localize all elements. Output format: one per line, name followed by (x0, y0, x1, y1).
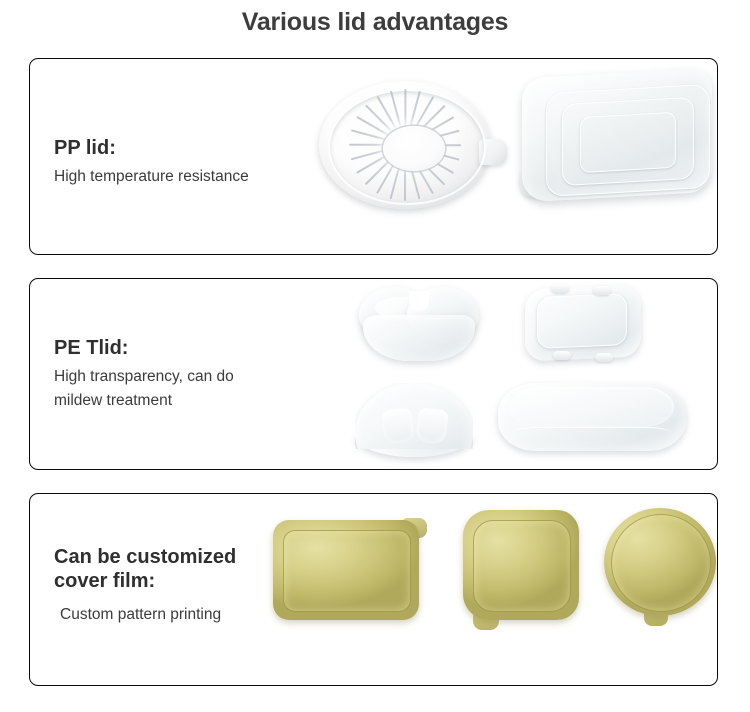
panel-cover-film-heading: Can be customized cover film: (54, 546, 236, 593)
panel-pe-lid-heading: PE Tlid: (54, 337, 234, 361)
product-heart-pe-lid (357, 285, 487, 367)
product-gold-square-foil-lid (457, 504, 589, 634)
oval-lid-seam (512, 427, 672, 440)
product-round-pp-lid (319, 81, 509, 216)
square-lid-inner-panel (537, 293, 627, 349)
oval-lid-top-face (510, 387, 674, 427)
product-gold-round-foil-lid (600, 502, 718, 634)
panel-pp-lid: PP lid: High temperature resistance (29, 58, 718, 255)
square-lid-bump-bottom-right (595, 353, 613, 362)
heart-lid-base (363, 315, 475, 361)
dome-lid-facet-left (381, 408, 414, 445)
round-lid-center (383, 126, 445, 171)
gold-circle-inner-edge (611, 514, 711, 612)
panel-cover-film: Can be customized cover film: Custom pat… (29, 493, 718, 686)
panel-cover-film-description: Custom pattern printing (54, 603, 236, 627)
product-oval-pe-lid (498, 383, 688, 457)
heart-lid-highlight (375, 297, 431, 319)
panel-pp-lid-description: High temperature resistance (54, 165, 249, 189)
rect-lid-ridge-inner (580, 112, 676, 173)
product-dome-pe-lid (355, 383, 475, 455)
product-square-pe-lid (521, 281, 645, 367)
dome-lid-facet-right (415, 408, 448, 445)
square-lid-bump-bottom-left (553, 351, 571, 360)
panel-cover-film-text: Can be customized cover film: Custom pat… (54, 546, 236, 627)
product-gold-rectangular-foil-lid (271, 510, 431, 630)
page-title: Various lid advantages (0, 8, 750, 37)
gold-rect-inner-edge (283, 530, 411, 612)
product-rectangular-pp-lid (512, 67, 718, 217)
gold-square-inner-edge (473, 520, 571, 612)
panel-pp-lid-text: PP lid: High temperature resistance (54, 137, 249, 189)
square-lid-bump-top-right (593, 286, 611, 295)
panel-pe-lid-text: PE Tlid: High transparency, can do milde… (54, 337, 234, 413)
rect-lid-body (522, 68, 712, 203)
panel-pp-lid-heading: PP lid: (54, 137, 249, 161)
panel-pe-lid: PE Tlid: High transparency, can do milde… (29, 278, 718, 470)
panel-pe-lid-description: High transparency, can do mildew treatme… (54, 365, 234, 413)
square-lid-bump-top-left (551, 284, 569, 293)
